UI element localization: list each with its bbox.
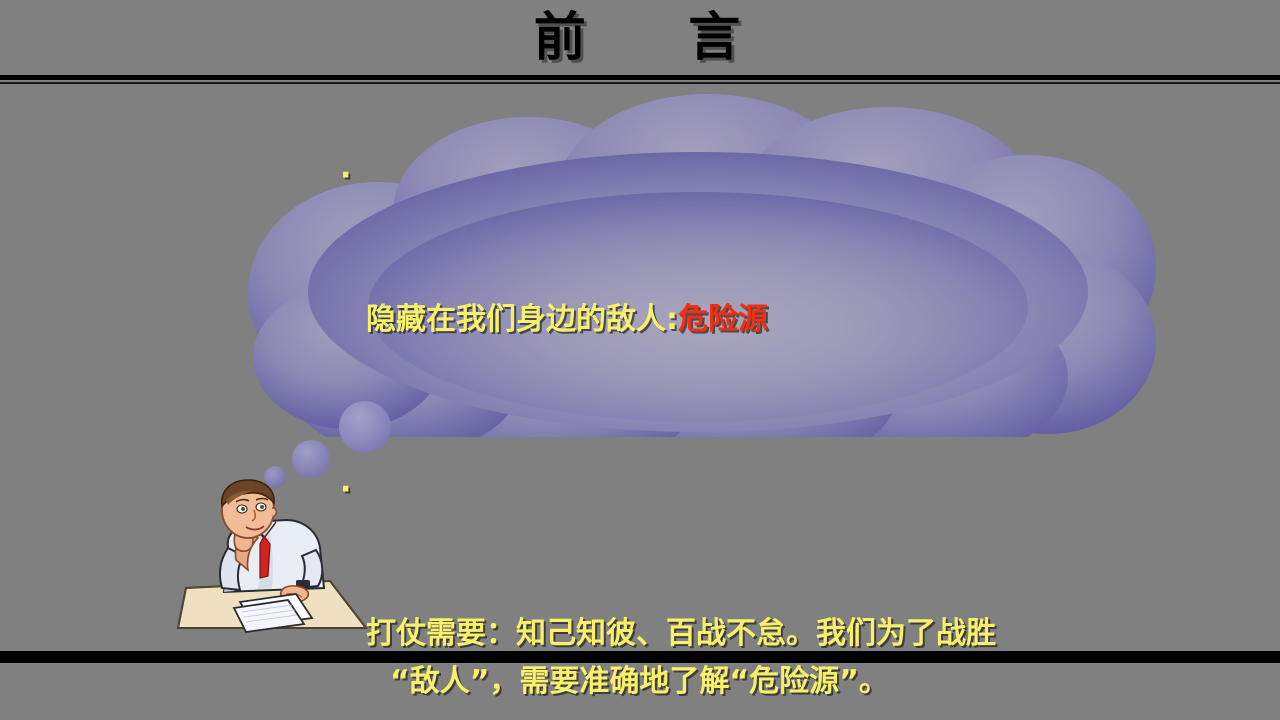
bullet-text: 隐藏在我们身边的敌人:危险源 [340,296,1130,344]
thinking-man-clipart [176,476,372,636]
bullet-2-line2: “敌人”，需要准确地了解“危险源”。 [366,658,1130,706]
bullet-2-line1: 打仗需要：知己知彼、百战不怠。我们为了战胜 [366,616,996,651]
slide-canvas: 前 言 [0,0,1280,720]
bullet-marker: · [340,152,351,200]
header-rule-thick [0,75,1280,80]
page-title: 前 言 [534,12,746,64]
bullet-list: · 隐藏在我们身边的敌人:危险源 · 打仗需要：知己知彼、百战不怠。我们为了战胜… [340,152,1130,720]
header-rule-thin [0,82,1280,84]
list-item: · 打仗需要：知己知彼、百战不怠。我们为了战胜“敌人”，需要准确地了解“危险源”… [340,466,1130,720]
list-item: · 隐藏在我们身边的敌人:危险源 [340,152,1130,440]
thought-trail-bubble-medium [292,440,330,478]
footer-band [0,651,1280,663]
bullet-1-red-keyword: 危险源 [678,302,768,337]
bullet-1-yellow-text: 隐藏在我们身边的敌人: [366,302,678,337]
title-area: 前 言 [0,0,1280,76]
